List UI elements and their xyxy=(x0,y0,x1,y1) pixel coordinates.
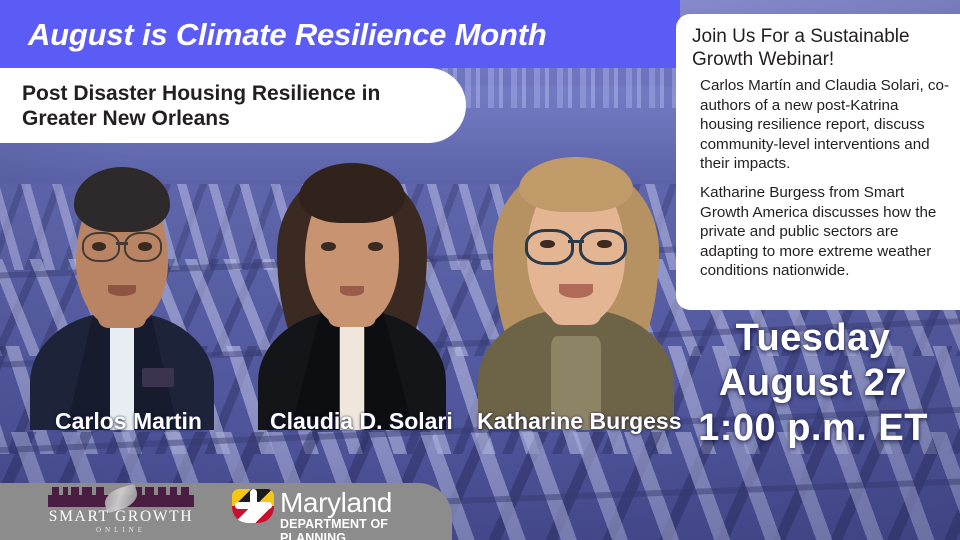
eye-left xyxy=(321,242,335,251)
speaker-photo-claudia-solari xyxy=(250,158,454,430)
speaker-photo-katharine-burgess xyxy=(470,154,682,430)
eye-left xyxy=(92,242,106,251)
cross-bottony-lobe-right xyxy=(265,502,272,509)
event-day: Tuesday xyxy=(682,316,944,361)
info-paragraph-2: Katharine Burgess from Smart Growth Amer… xyxy=(700,183,950,281)
webinar-info-panel: Join Us For a Sustainable Growth Webinar… xyxy=(676,14,960,310)
smart-growth-online-logo: SMART GROWTH ONLINE xyxy=(48,487,194,537)
cross-bottony-lobe-left xyxy=(235,502,242,509)
mouth xyxy=(108,285,136,296)
eye-right xyxy=(138,242,152,251)
hair-top xyxy=(519,157,633,212)
info-paragraph-1: Carlos Martín and Claudia Solari, co-aut… xyxy=(700,76,950,174)
eyeglasses-bridge xyxy=(568,240,585,243)
maryland-department-subtitle: DEPARTMENT OF PLANNING xyxy=(280,517,428,540)
info-panel-body: Carlos Martín and Claudia Solari, co-aut… xyxy=(700,76,950,290)
speaker-name-3: Katharine Burgess xyxy=(477,408,682,435)
pocket-square xyxy=(142,368,174,387)
smart-growth-tagline: ONLINE xyxy=(48,526,194,534)
speaker-photo-carlos-martin xyxy=(22,162,222,430)
session-title-pill: Post Disaster Housing Resilience in Grea… xyxy=(0,68,466,143)
maryland-wordmark: Maryland xyxy=(280,487,392,519)
event-date-time: Tuesday August 27 1:00 p.m. ET xyxy=(682,316,944,450)
maryland-department-of-planning-logo: Maryland DEPARTMENT OF PLANNING xyxy=(232,489,428,535)
hair-top xyxy=(299,163,405,223)
cross-bottony-lobe-top xyxy=(250,489,257,496)
eye-right xyxy=(368,242,382,251)
mouth xyxy=(559,284,593,298)
smart-growth-wordmark: SMART GROWTH xyxy=(48,508,194,526)
event-time: 1:00 p.m. ET xyxy=(682,406,944,451)
cross-bottony-lobe-bottom xyxy=(250,516,257,523)
webinar-promo-poster: August is Climate Resilience Month Post … xyxy=(0,0,960,540)
speaker-name-1: Carlos Martin xyxy=(55,408,202,435)
event-date: August 27 xyxy=(682,361,944,406)
cross-bottony-horizontal xyxy=(239,502,268,509)
mouth xyxy=(340,286,364,296)
info-panel-heading: Join Us For a Sustainable Growth Webinar… xyxy=(692,25,950,71)
session-title: Post Disaster Housing Resilience in Grea… xyxy=(22,82,432,132)
speaker-photos xyxy=(0,150,690,430)
logo-bar: SMART GROWTH ONLINE Maryland DEPARTMENT … xyxy=(0,483,452,540)
eyeglasses-bridge xyxy=(116,242,128,245)
header-banner: August is Climate Resilience Month xyxy=(0,0,680,68)
speaker-name-2: Claudia D. Solari xyxy=(270,408,453,435)
eye-left xyxy=(540,240,555,249)
header-title: August is Climate Resilience Month xyxy=(28,17,547,53)
hair xyxy=(74,167,170,231)
maryland-flag-shield-icon xyxy=(232,489,274,523)
speaker-names: Carlos Martin Claudia D. Solari Katharin… xyxy=(0,408,690,444)
